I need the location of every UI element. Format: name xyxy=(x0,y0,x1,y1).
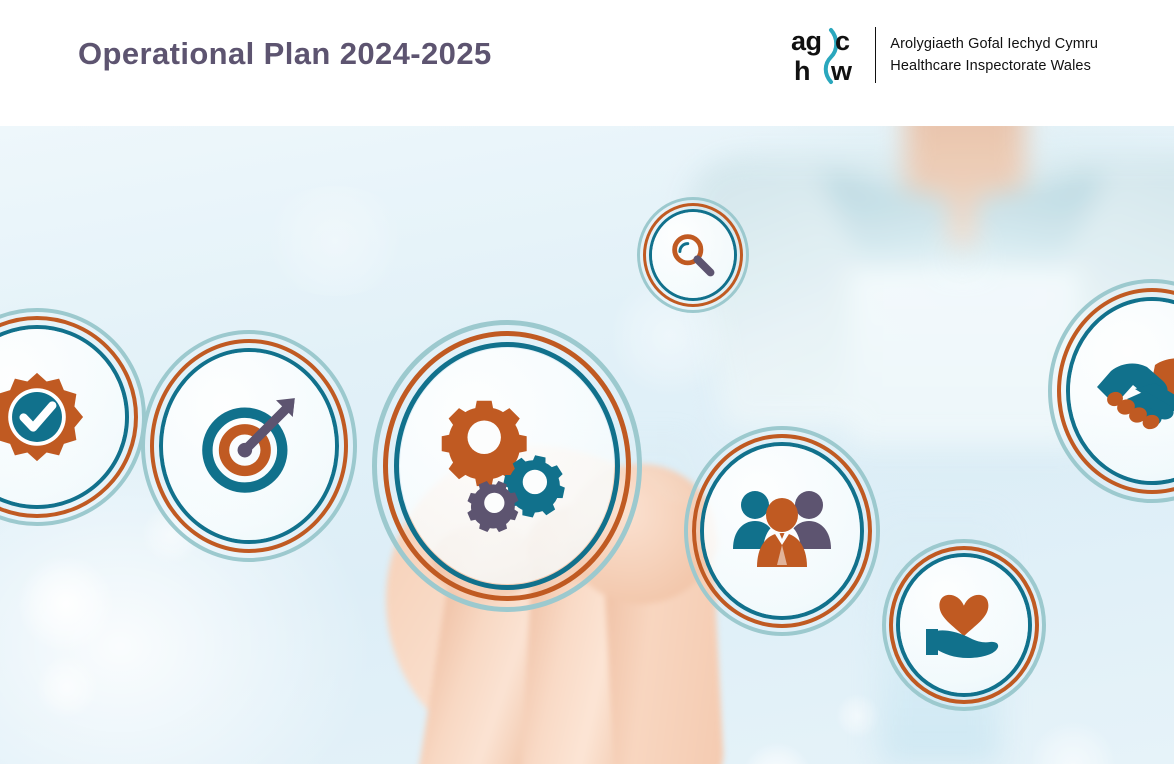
svg-text:h: h xyxy=(794,56,811,86)
people-icon xyxy=(684,426,880,636)
logo-text: Arolygiaeth Gofal Iechyd Cymru Healthcar… xyxy=(890,33,1098,78)
svg-text:ag: ag xyxy=(791,26,822,56)
bokeh-highlight xyxy=(36,656,98,718)
icon-bubble-handshake[interactable] xyxy=(1048,279,1174,503)
logo-mark: ag c h w xyxy=(791,24,865,86)
svg-text:w: w xyxy=(830,56,853,86)
svg-text:c: c xyxy=(835,26,850,56)
heart-in-hand-icon xyxy=(882,539,1046,711)
handshake-icon xyxy=(1048,279,1174,503)
page-title: Operational Plan 2024-2025 xyxy=(78,36,492,72)
icon-bubble-heart-in-hand[interactable] xyxy=(882,539,1046,711)
hiw-logo: ag c h w Arolygiaeth Gofal Iechyd Cymru … xyxy=(791,24,1098,86)
bokeh-highlight xyxy=(836,694,880,738)
icon-bubble-gears[interactable] xyxy=(372,320,642,612)
cover-hero-image xyxy=(0,126,1174,764)
logo-divider xyxy=(875,27,876,83)
bokeh-highlight xyxy=(1030,722,1116,764)
logo-english-name: Healthcare Inspectorate Wales xyxy=(890,55,1098,77)
icon-bubble-people[interactable] xyxy=(684,426,880,636)
bokeh-highlight xyxy=(260,186,410,296)
logo-welsh-name: Arolygiaeth Gofal Iechyd Cymru xyxy=(890,33,1098,55)
target-icon xyxy=(141,330,357,562)
bokeh-highlight xyxy=(18,556,114,652)
verified-badge-icon xyxy=(0,308,146,526)
gears-icon xyxy=(372,320,642,612)
icon-bubble-target[interactable] xyxy=(141,330,357,562)
icon-bubble-magnifier[interactable] xyxy=(637,197,749,313)
page-header: Operational Plan 2024-2025 ag c h w Arol… xyxy=(0,0,1174,126)
magnifier-icon xyxy=(637,197,749,313)
operational-plan-cover: Operational Plan 2024-2025 ag c h w Arol… xyxy=(0,0,1174,764)
person-shirt xyxy=(850,266,1080,446)
icon-bubble-verified[interactable] xyxy=(0,308,146,526)
